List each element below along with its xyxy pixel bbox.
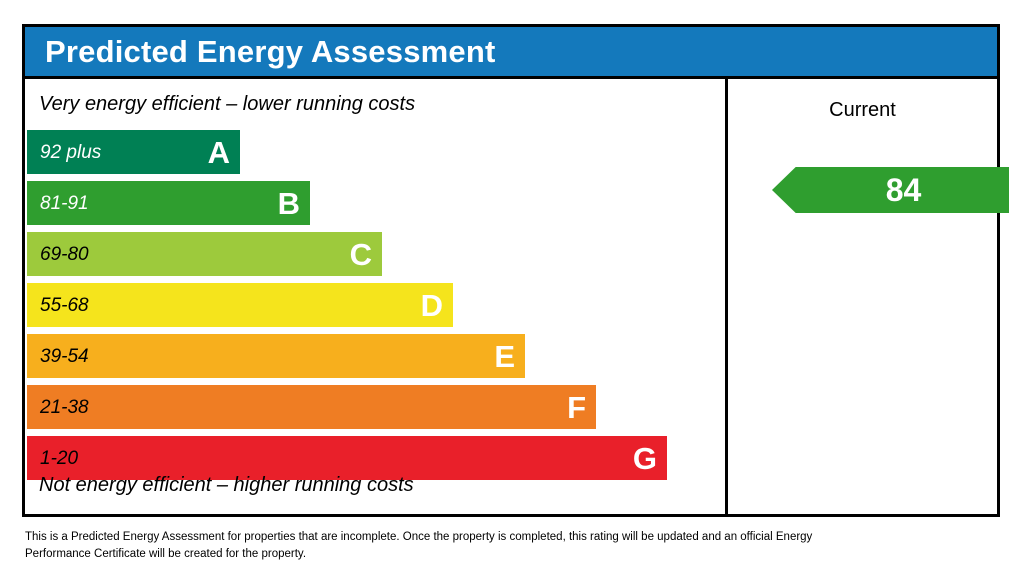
band-range-label: 69-80	[40, 245, 89, 264]
band-letter-label: B	[278, 188, 304, 219]
certificate-title-bar: Predicted Energy Assessment	[25, 27, 997, 79]
current-rating-pane: Current 84	[728, 79, 997, 514]
energy-band-f: 21-38F	[27, 385, 596, 429]
current-rating-arrow: 84	[772, 167, 1009, 213]
ratings-pane: Very energy efficient – lower running co…	[25, 79, 728, 514]
epc-certificate-frame: Predicted Energy Assessment Very energy …	[22, 24, 1000, 517]
band-letter-label: E	[494, 341, 519, 372]
band-letter-label: C	[350, 239, 376, 270]
page-title: Predicted Energy Assessment	[25, 34, 496, 70]
band-letter-label: F	[567, 392, 590, 423]
energy-band-c: 69-80C	[27, 232, 382, 276]
band-letter-label: G	[633, 443, 661, 474]
energy-band-b: 81-91B	[27, 181, 310, 225]
caption-not-efficient: Not energy efficient – higher running co…	[25, 474, 414, 497]
energy-band-d: 55-68D	[27, 283, 453, 327]
footnote-text: This is a Predicted Energy Assessment fo…	[25, 529, 825, 562]
caption-very-efficient: Very energy efficient – lower running co…	[25, 93, 415, 116]
band-range-label: 81-91	[40, 194, 89, 213]
band-range-label: 21-38	[40, 398, 89, 417]
energy-band-e: 39-54E	[27, 334, 525, 378]
energy-band-list: 92 plusA81-91B69-80C55-68D39-54E21-38F1-…	[27, 130, 667, 487]
current-rating-value: 84	[860, 174, 922, 206]
certificate-body: Very energy efficient – lower running co…	[25, 79, 997, 514]
band-range-label: 1-20	[40, 449, 78, 468]
current-column-header: Current	[728, 79, 997, 122]
band-range-label: 39-54	[40, 347, 89, 366]
band-range-label: 55-68	[40, 296, 89, 315]
band-letter-label: A	[208, 137, 234, 168]
band-letter-label: D	[421, 290, 447, 321]
band-range-label: 92 plus	[40, 143, 101, 162]
energy-band-a: 92 plusA	[27, 130, 240, 174]
